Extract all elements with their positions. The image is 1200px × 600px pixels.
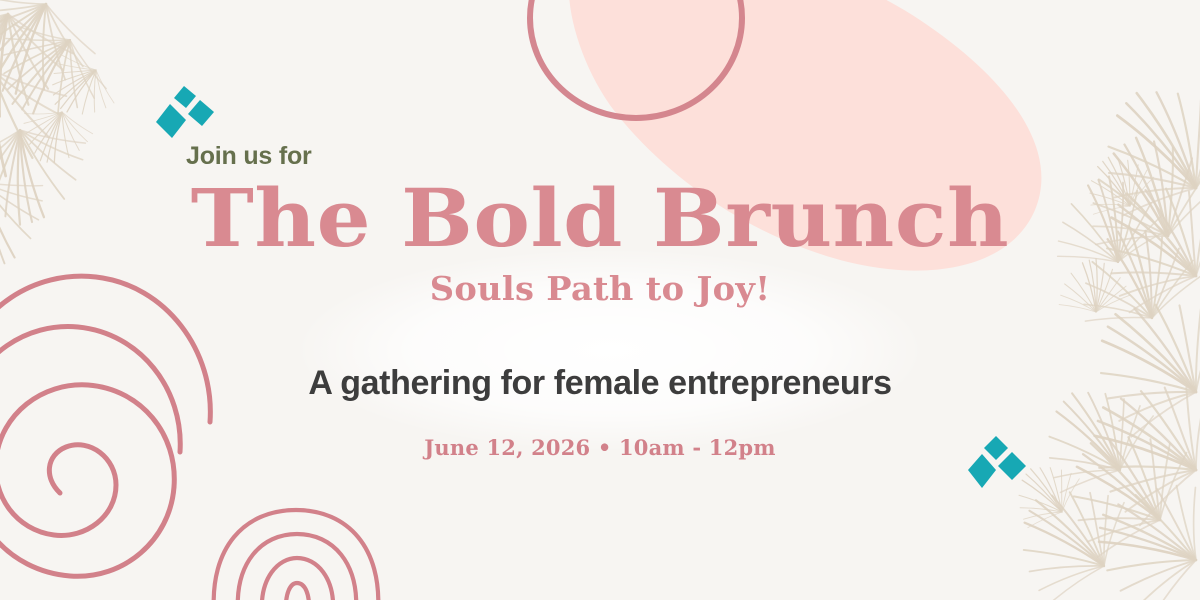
- event-tagline: Souls Path to Joy!: [0, 272, 1200, 305]
- banner-content: Join us for The Bold Brunch Souls Path t…: [0, 0, 1200, 600]
- event-datetime: June 12, 2026 • 10am - 12pm: [0, 437, 1200, 458]
- event-title: The Bold Brunch: [0, 178, 1200, 258]
- eyebrow-text: Join us for: [186, 142, 312, 171]
- event-subhead: A gathering for female entrepreneurs: [0, 366, 1200, 400]
- event-banner: Join us for The Bold Brunch Souls Path t…: [0, 0, 1200, 600]
